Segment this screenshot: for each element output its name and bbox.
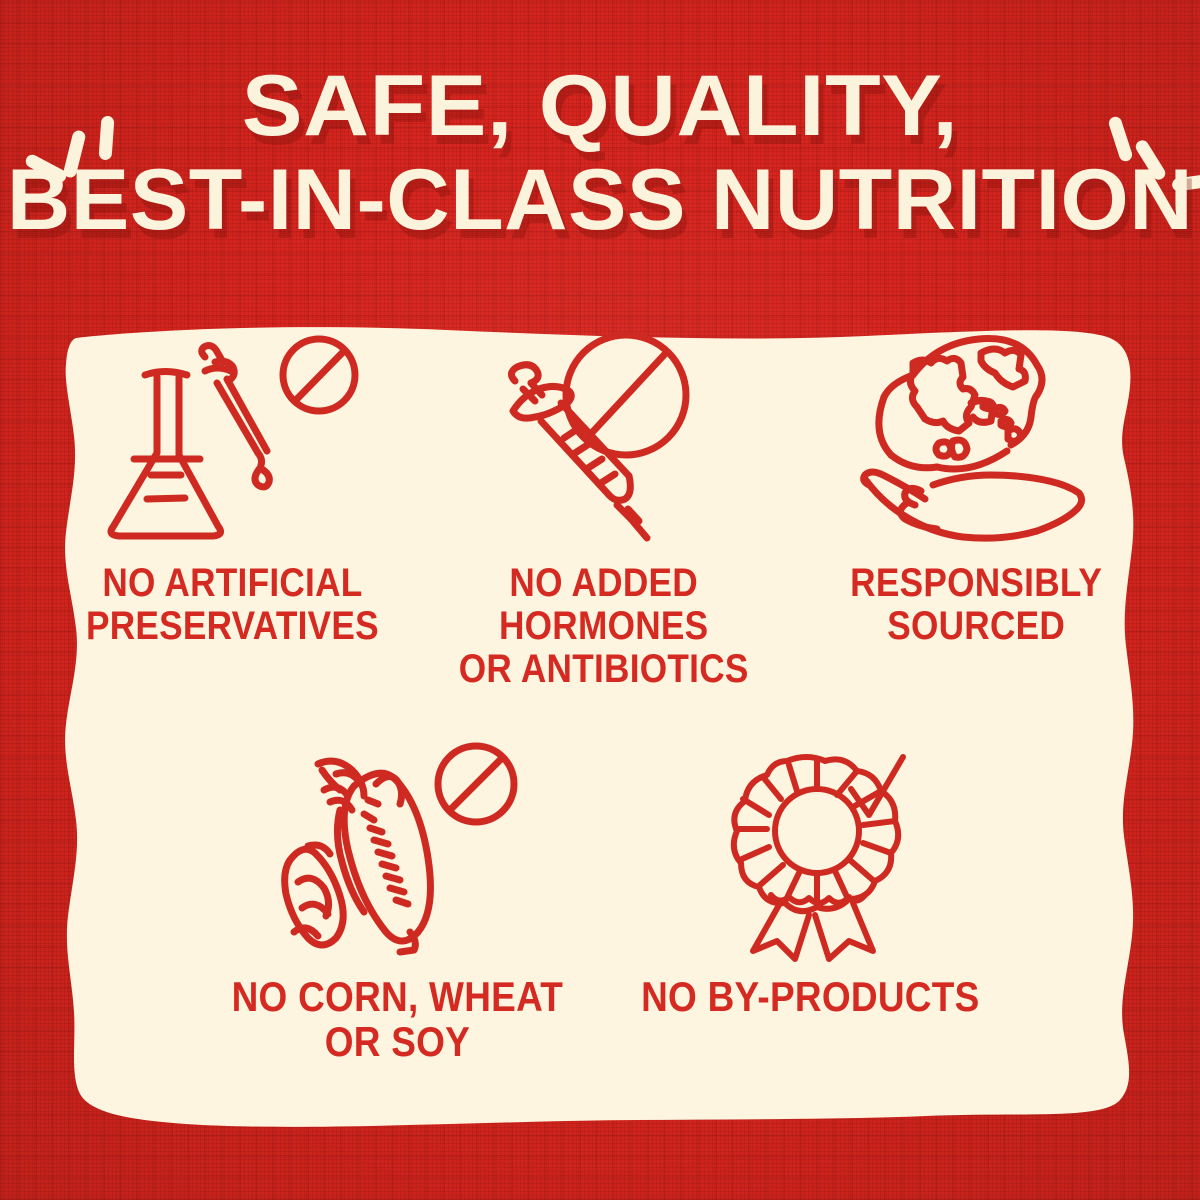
corn-soybean-prohibited-icon [278,740,518,965]
feature-responsibly-sourced: RESPONSIBLY SOURCED [790,330,1162,692]
feature-label: NO CORN, WHEAT OR SOY [232,974,564,1065]
feature-no-corn-wheat-soy: NO CORN, WHEAT OR SOY [191,742,604,1065]
headline-line-1: SAFE, QUALITY, [0,64,1200,148]
feature-no-by-products: NO BY-PRODUCTS [604,742,1017,1065]
poster-root: SAFE, QUALITY, BEST-IN-CLASS NUTRITION [0,0,1200,1200]
headline: SAFE, QUALITY, BEST-IN-CLASS NUTRITION [0,64,1200,243]
award-ribbon-check-icon [705,745,915,960]
icon-box [87,330,377,550]
row-spacer-right [1017,742,1162,1065]
feature-label: NO BY-PRODUCTS [641,974,979,1019]
feature-label: RESPONSIBLY SOURCED [850,562,1102,648]
globe-in-hand-icon [851,325,1101,555]
flask-dropper-prohibited-icon [87,335,377,545]
feature-label: NO ARTIFICIAL PRESERVATIVES [86,562,379,648]
feature-row-2: NO CORN, WHEAT OR SOY [46,742,1162,1065]
feature-no-added-hormones: NO ADDED HORMONES OR ANTIBIOTICS [418,330,790,692]
feature-row-1: NO ARTIFICIAL PRESERVATIVES [46,330,1162,692]
feature-grid: NO ARTIFICIAL PRESERVATIVES [46,312,1162,1142]
feature-label: NO ADDED HORMONES OR ANTIBIOTICS [459,562,749,692]
icon-box [479,330,729,550]
icon-box [278,742,518,962]
row-spacer-left [46,742,191,1065]
feature-no-artificial-preservatives: NO ARTIFICIAL PRESERVATIVES [46,330,418,692]
headline-line-2: BEST-IN-CLASS NUTRITION [0,158,1200,242]
syringe-prohibited-icon [479,333,729,548]
icon-box [705,742,915,962]
icon-box [851,330,1101,550]
